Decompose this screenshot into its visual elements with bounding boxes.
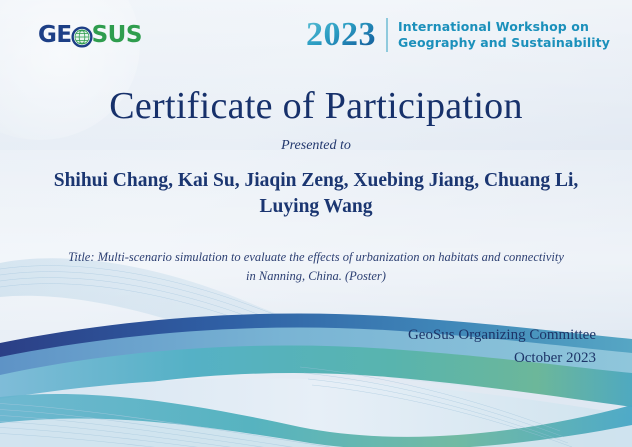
certificate-header: GE SUS 202 — [0, 14, 632, 62]
event-name-line-1: International Workshop on — [398, 19, 610, 35]
event-name: International Workshop on Geography and … — [398, 19, 610, 50]
paper-title: Title: Multi-scenario simulation to eval… — [66, 248, 566, 286]
background-decoration — [0, 0, 632, 447]
event-name-line-2: Geography and Sustainability — [398, 35, 610, 51]
vertical-divider — [386, 18, 388, 52]
event-branding: 2023 International Workshop on Geography… — [306, 18, 610, 52]
issue-date: October 2023 — [408, 347, 596, 370]
signature-block: GeoSus Organizing Committee October 2023 — [408, 324, 596, 369]
page-title: Certificate of Participation — [0, 84, 632, 128]
logo-text-sus: SUS — [92, 24, 142, 47]
logo-text-ge: GE — [38, 24, 72, 47]
certificate-page: GE SUS 202 — [0, 0, 632, 447]
recipient-names: Shihui Chang, Kai Su, Jiaqin Zeng, Xuebi… — [46, 168, 586, 221]
presented-to-label: Presented to — [0, 138, 632, 154]
geosus-logo: GE SUS — [38, 24, 142, 47]
issuing-committee: GeoSus Organizing Committee — [408, 324, 596, 347]
globe-icon — [71, 26, 93, 48]
event-year: 2023 — [306, 18, 376, 52]
